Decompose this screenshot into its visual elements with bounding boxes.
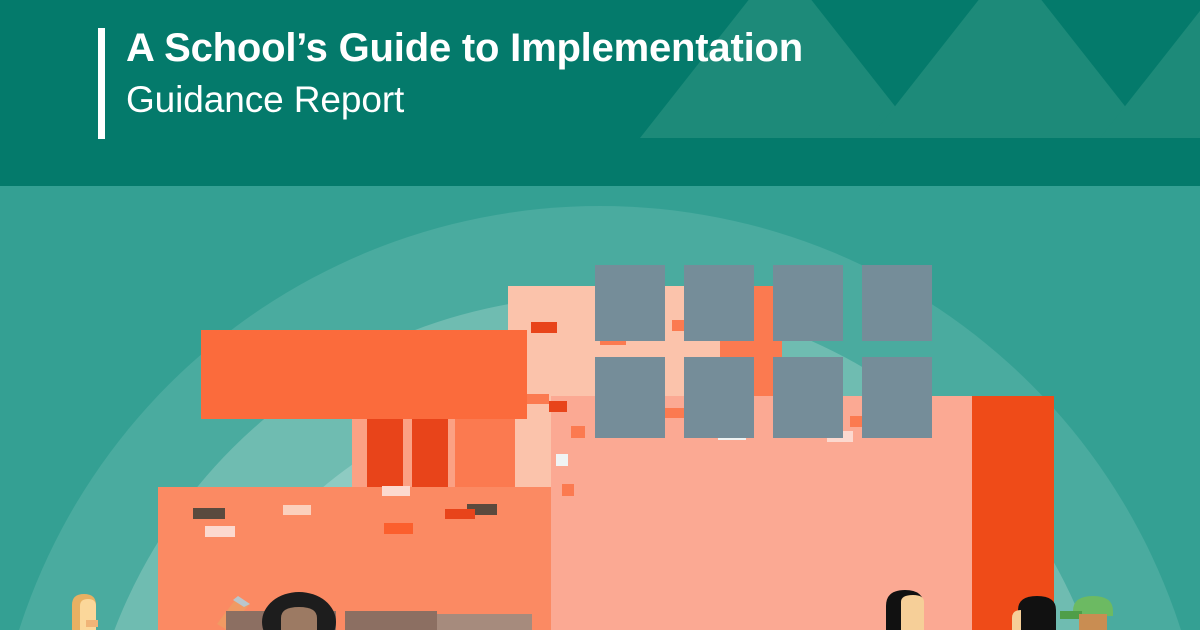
report-cover: A School’s Guide to Implementation Guida…: [0, 0, 1200, 630]
cover-header: A School’s Guide to Implementation Guida…: [0, 0, 1200, 186]
person-blonde: [72, 594, 98, 630]
school-building-illustration: [0, 186, 1200, 630]
page-subtitle: Guidance Report: [126, 75, 1026, 125]
header-content: A School’s Guide to Implementation Guida…: [0, 0, 1200, 186]
page-title: A School’s Guide to Implementation: [126, 22, 1026, 75]
person-window-dark-hair: [886, 590, 924, 630]
title-block: A School’s Guide to Implementation Guida…: [126, 22, 1026, 125]
title-accent-rule: [98, 28, 105, 139]
